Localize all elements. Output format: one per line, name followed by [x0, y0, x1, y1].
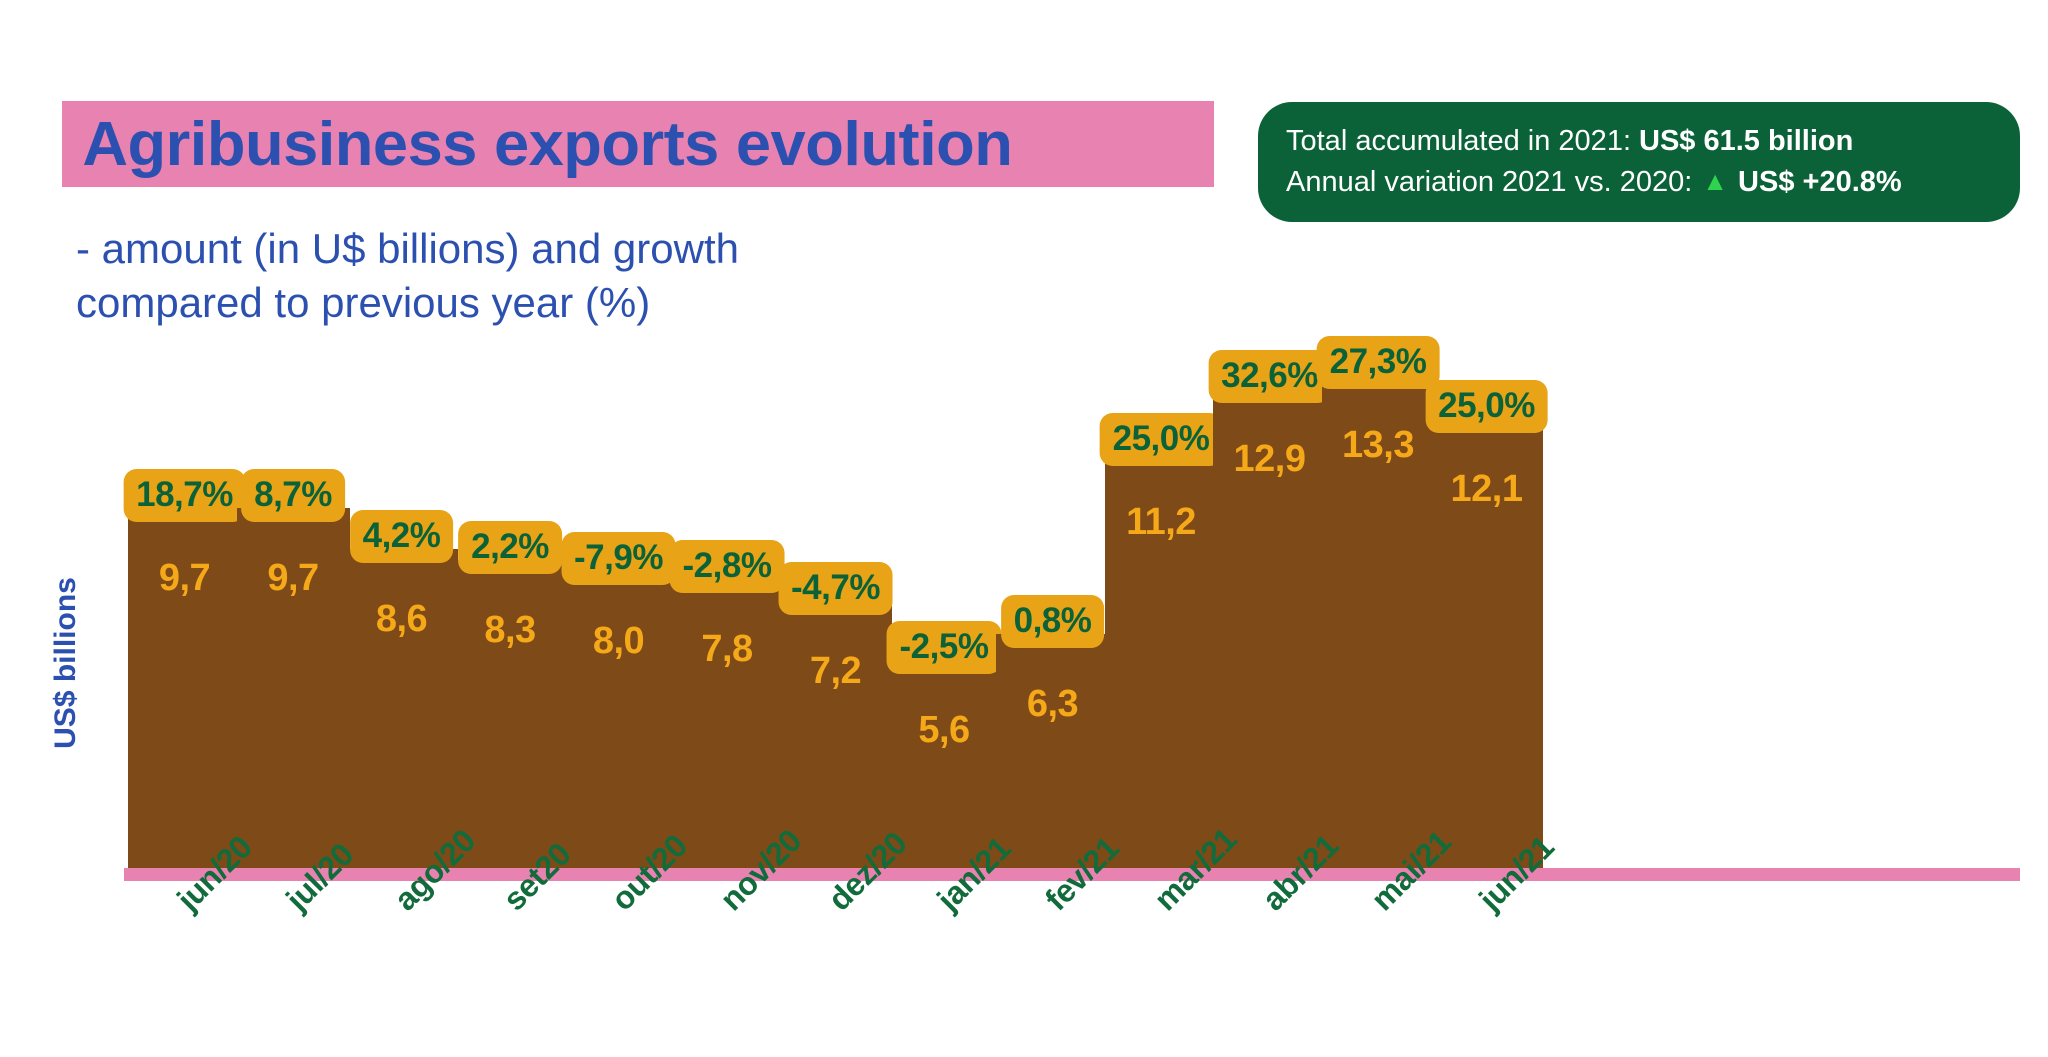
x-axis-tick-label: jun/21 [1472, 829, 1561, 918]
growth-badge: -7,9% [561, 532, 676, 585]
bar-value-label: 13,3 [1322, 424, 1435, 467]
bar-amount [1322, 375, 1435, 868]
summary-annual-variation-value: US$ +20.8% [1738, 162, 1902, 203]
x-axis-tick-label: jul/20 [279, 836, 361, 918]
growth-badge: 8,7% [241, 469, 345, 522]
bar-amount [345, 549, 458, 868]
growth-badge: 0,8% [1001, 595, 1105, 648]
x-axis-tick-label: jan/21 [930, 830, 1018, 918]
growth-badge: 27,3% [1317, 336, 1440, 389]
growth-badge: 2,2% [458, 521, 562, 574]
bar-amount [1213, 389, 1326, 868]
arrow-up-icon: ▲ [1702, 168, 1728, 194]
page-title-band: Agribusiness exports evolution [62, 101, 1214, 187]
page-subtitle: - amount (in U$ billions) and growth com… [76, 222, 976, 330]
x-axis-tick-label: jun/20 [170, 829, 259, 918]
growth-badge: 25,0% [1100, 413, 1223, 466]
growth-badge: -4,7% [778, 562, 893, 615]
x-axis-tick-label: set20 [496, 836, 578, 918]
x-axis-tick-label: abr/21 [1255, 827, 1346, 918]
bar-value-label: 9,7 [237, 557, 350, 600]
bar-value-label: 12,1 [1430, 468, 1543, 511]
bar-value-label: 8,6 [345, 598, 458, 641]
growth-badge: -2,5% [887, 621, 1002, 674]
plot-area: 9,718,7%9,78,7%8,64,2%8,32,2%8,0-7,9%7,8… [128, 330, 2012, 868]
bar-amount [779, 601, 892, 868]
bar-value-label: 8,0 [562, 620, 675, 663]
bar-value-label: 7,2 [779, 650, 892, 693]
bar-amount [1430, 419, 1543, 868]
growth-badge: 18,7% [123, 469, 246, 522]
bar-value-label: 11,2 [1105, 501, 1218, 544]
bar-amount [128, 508, 241, 868]
x-axis-tick-label: mar/21 [1147, 821, 1244, 918]
x-axis-tick-label: mai/21 [1364, 824, 1458, 918]
bar-amount [562, 571, 675, 868]
bar-value-label: 6,3 [996, 683, 1109, 726]
growth-badge: -2,8% [670, 540, 785, 593]
x-axis-tick-label: ago/20 [387, 822, 483, 918]
page-subtitle-line-1: - amount (in U$ billions) and growth [76, 222, 976, 276]
summary-total-accumulated-label: Total accumulated in 2021: [1286, 121, 1631, 162]
bar-value-label: 7,8 [671, 628, 784, 671]
x-axis-tick-label: fev/21 [1038, 830, 1126, 918]
bar-amount [671, 579, 784, 868]
bar-amount [237, 508, 350, 868]
summary-annual-variation-label: Annual variation 2021 vs. 2020: [1286, 162, 1692, 203]
growth-badge: 4,2% [350, 510, 454, 563]
page-subtitle-line-2: compared to previous year (%) [76, 276, 976, 330]
bar-value-label: 9,7 [128, 557, 241, 600]
x-axis-tick-label: nov/20 [713, 822, 809, 918]
y-axis-label: US$ billions [49, 543, 83, 783]
bar-amount [454, 560, 567, 868]
x-axis-tick-label: out/20 [604, 827, 695, 918]
summary-total-accumulated-value: US$ 61.5 billion [1639, 121, 1853, 162]
growth-badge: 32,6% [1208, 350, 1331, 403]
summary-total-accumulated-line: Total accumulated in 2021: US$ 61.5 bill… [1286, 121, 1992, 162]
page-title: Agribusiness exports evolution [62, 109, 1012, 180]
bar-amount [996, 634, 1109, 868]
bar-value-label: 12,9 [1213, 438, 1326, 481]
bar-value-label: 5,6 [888, 709, 1001, 752]
bar-value-label: 8,3 [454, 609, 567, 652]
bar-amount [1105, 452, 1218, 868]
bar-amount [888, 660, 1001, 868]
x-axis-tick-label: dez/20 [821, 825, 914, 918]
summary-callout-box: Total accumulated in 2021: US$ 61.5 bill… [1258, 102, 2020, 222]
growth-badge: 25,0% [1425, 380, 1548, 433]
axis-baseline [124, 868, 2020, 881]
summary-annual-variation-line: Annual variation 2021 vs. 2020: ▲ US$ +2… [1286, 162, 1992, 203]
